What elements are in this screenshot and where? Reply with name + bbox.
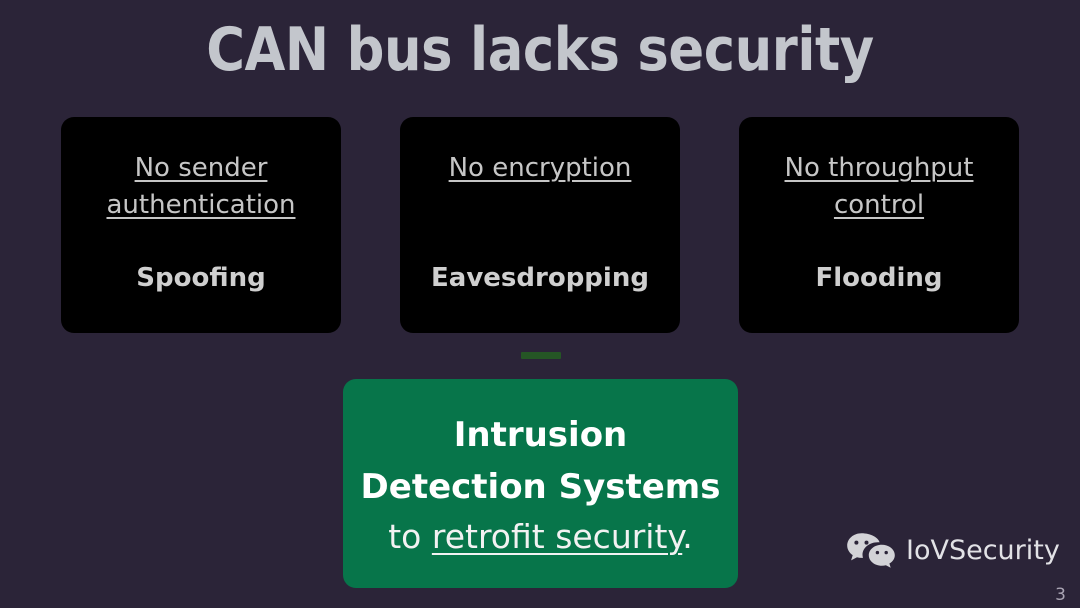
- slide-canvas: CAN bus lacks security No sender authent…: [0, 0, 1080, 608]
- brand-name-label: IoVSecurity: [906, 536, 1060, 566]
- problem-card-encryption[interactable]: No encryption Eavesdropping: [400, 117, 680, 333]
- brand-lockup: IoVSecurity: [845, 531, 1060, 571]
- card-problem-label: No encryption: [435, 150, 646, 187]
- problem-cards-row: No sender authentication Spoofing No enc…: [61, 117, 1019, 333]
- problem-card-sender-authentication[interactable]: No sender authentication Spoofing: [61, 117, 341, 333]
- solution-subtitle: to retrofit security.: [343, 513, 738, 561]
- solution-subtitle-suffix: .: [682, 517, 693, 556]
- page-number: 3: [1055, 584, 1066, 606]
- solution-title-line-2: Detection Systems: [343, 461, 738, 513]
- card-problem-label: No throughput control: [739, 150, 1019, 224]
- card-problem-label: No sender authentication: [61, 150, 341, 224]
- card-attack-label: Spoofing: [61, 263, 341, 293]
- card-attack-label: Flooding: [739, 263, 1019, 293]
- card-attack-label: Eavesdropping: [400, 263, 680, 293]
- solution-subtitle-prefix: to: [388, 517, 432, 556]
- solution-title-line-1: Intrusion: [343, 409, 738, 461]
- problem-card-throughput-control[interactable]: No throughput control Flooding: [739, 117, 1019, 333]
- page-title: CAN bus lacks security: [65, 8, 1015, 92]
- solution-box[interactable]: Intrusion Detection Systems to retrofit …: [343, 379, 738, 588]
- connector-bar: [521, 352, 561, 359]
- wechat-icon: [845, 531, 897, 571]
- solution-subtitle-emphasis: retrofit security: [432, 517, 682, 556]
